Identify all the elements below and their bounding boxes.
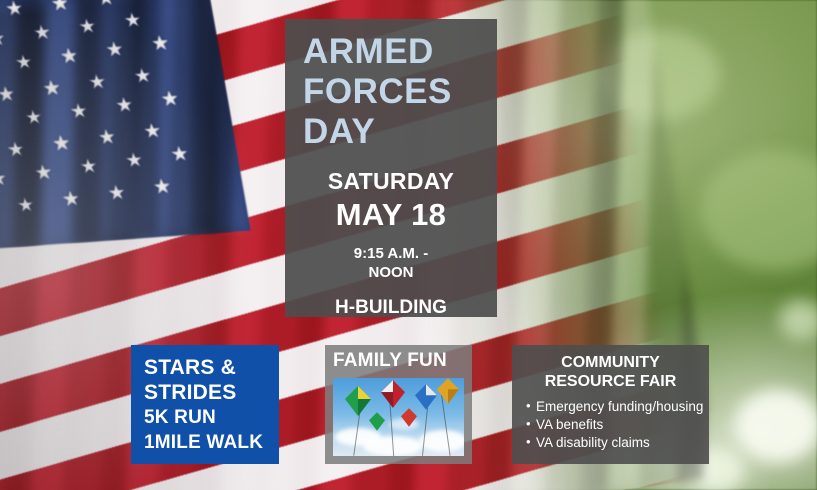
- family-fun-title: FAMILY FUN: [325, 345, 472, 372]
- list-item: Emergency funding/housing: [526, 398, 709, 416]
- list-item: VA disability claims: [526, 434, 709, 452]
- event-title-line-3: DAY: [303, 112, 497, 152]
- family-fun-panel: FAMILY FUN: [325, 345, 472, 464]
- event-title-line-2: FORCES: [303, 72, 497, 112]
- main-event-panel: ARMED FORCES DAY SATURDAY MAY 18 9:15 A.…: [285, 19, 497, 317]
- event-time: 9:15 A.M. - NOON: [285, 244, 497, 282]
- kite-icon: [369, 412, 385, 431]
- stars-line-3: 5K RUN: [144, 405, 279, 430]
- stars-line-2: STRIDES: [144, 380, 279, 405]
- community-resource-fair-panel: COMMUNITY RESOURCE FAIR Emergency fundin…: [512, 345, 709, 464]
- kite-icon: [381, 380, 405, 408]
- community-title-line-2: RESOURCE FAIR: [522, 372, 699, 391]
- kite-icon: [401, 408, 417, 427]
- event-location: H-BUILDING: [285, 297, 497, 319]
- community-items-list: Emergency funding/housing VA benefits VA…: [512, 398, 709, 452]
- event-time-line-1: 9:15 A.M. -: [285, 244, 497, 263]
- bokeh-light: [779, 300, 817, 340]
- kite-icon: [415, 384, 437, 410]
- kite-icon: [345, 386, 371, 416]
- stars-line-1: STARS &: [144, 355, 279, 380]
- poster-canvas: ★ ★ ★ ★ ★ ★ ★ ★ ★ ★ ★ ★ ★ ★ ★ ★ ★ ★ ★ ★: [0, 0, 817, 490]
- kite-icon: [437, 378, 459, 404]
- event-title: ARMED FORCES DAY: [285, 19, 497, 152]
- cloud-shape: [419, 430, 464, 452]
- community-title: COMMUNITY RESOURCE FAIR: [512, 345, 709, 391]
- stars-line-4: 1MILE WALK: [144, 430, 279, 455]
- event-time-line-2: NOON: [285, 263, 497, 282]
- event-day: SATURDAY: [285, 168, 497, 195]
- stars-and-strides-panel: STARS & STRIDES 5K RUN 1MILE WALK: [131, 345, 279, 464]
- event-date: MAY 18: [285, 197, 497, 233]
- community-title-line-1: COMMUNITY: [522, 353, 699, 372]
- bokeh-light: [735, 390, 817, 462]
- kites-photo: [333, 378, 464, 456]
- list-item: VA benefits: [526, 416, 709, 434]
- event-title-line-1: ARMED: [303, 32, 497, 72]
- event-details: SATURDAY MAY 18 9:15 A.M. - NOON H-BUILD…: [285, 168, 497, 319]
- stars-and-strides-text: STARS & STRIDES 5K RUN 1MILE WALK: [131, 345, 279, 455]
